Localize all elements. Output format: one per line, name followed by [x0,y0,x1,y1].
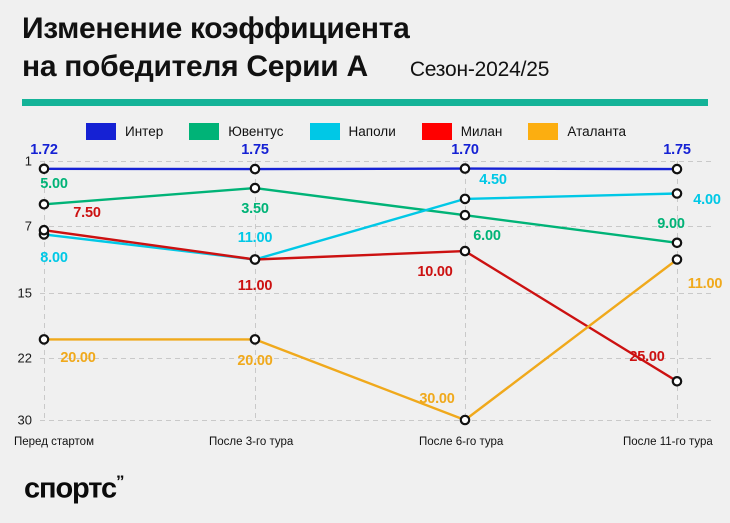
series-line-Аталанта [44,260,677,421]
legend-item-3: Милан [422,123,503,140]
legend-item-1: Ювентус [189,123,283,140]
data-point-label: 11.00 [238,278,273,294]
data-point-marker [673,239,681,247]
data-point-label: 7.50 [73,205,100,221]
data-point-label: 11.00 [238,230,273,246]
legend-swatch-icon [310,123,340,140]
legend-label: Наполи [349,124,396,139]
data-point-label: 1.72 [30,142,57,158]
legend-label: Интер [125,124,163,139]
data-point-label: 1.75 [663,142,690,158]
data-point-label: 8.00 [40,250,67,266]
data-point-marker [673,189,681,197]
x-axis-category-label: Перед стартом [14,436,94,448]
legend-label: Милан [461,124,503,139]
data-point-label: 20.00 [60,350,95,366]
data-point-marker [40,335,48,343]
data-point-marker [461,247,469,255]
x-axis-category-label: После 6-го тура [419,436,503,448]
data-point-marker [251,335,259,343]
data-point-marker [40,200,48,208]
data-point-label: 10.00 [417,264,452,280]
data-point-label: 1.70 [451,142,478,158]
data-point-label: 4.50 [479,172,506,188]
legend-swatch-icon [422,123,452,140]
data-point-label: 20.00 [237,353,272,369]
data-point-marker [673,377,681,385]
series-line-Интер [44,169,677,170]
data-point-marker [251,184,259,192]
chart-canvas [0,150,730,440]
legend-swatch-icon [86,123,116,140]
data-point-label: 5.00 [40,176,67,192]
data-point-marker [461,164,469,172]
title-row-secondary: на победителя Серии А Сезон-2024/25 [22,48,712,86]
data-point-label: 1.75 [241,142,268,158]
y-axis-tick-label: 1 [2,154,32,169]
legend-label: Ювентус [228,124,283,139]
y-axis-tick-label: 22 [2,351,32,366]
data-point-marker [673,255,681,263]
header: Изменение коэффициента на победителя Сер… [22,10,712,86]
data-point-marker [40,226,48,234]
data-point-marker [40,165,48,173]
data-point-marker [673,165,681,173]
page-title-line2: на победителя Серии А [22,48,368,86]
logo-text: спортс [24,473,116,505]
data-point-marker [461,416,469,424]
data-point-label: 9.00 [657,216,684,232]
legend-swatch-icon [528,123,558,140]
x-axis-category-label: После 3-го тура [209,436,293,448]
infographic-root: Изменение коэффициента на победителя Сер… [0,0,730,523]
y-axis-tick-label: 15 [2,286,32,301]
data-point-label: 30.00 [419,391,454,407]
data-point-label: 3.50 [241,201,268,217]
line-chart-plot: 1.721.751.701.755.003.506.009.008.0011.0… [0,150,730,440]
data-point-marker [461,195,469,203]
y-axis-tick-label: 30 [2,413,32,428]
legend-swatch-icon [189,123,219,140]
page-title-line1: Изменение коэффициента [22,10,712,48]
sports-logo: спортс” [24,473,123,504]
x-axis-category-label: После 11-го тура [623,436,713,448]
data-point-marker [461,211,469,219]
logo-quote-mark: ” [116,472,123,491]
header-divider [22,99,708,106]
y-axis-tick-label: 7 [2,219,32,234]
legend-item-4: Аталанта [528,123,626,140]
legend-label: Аталанта [567,124,626,139]
data-point-label: 11.00 [688,276,723,292]
legend-item-2: Наполи [310,123,396,140]
data-point-label: 6.00 [473,228,500,244]
season-subtitle: Сезон-2024/25 [410,58,549,82]
chart-legend: ИнтерЮвентусНаполиМиланАталанта [86,123,652,140]
data-point-marker [251,255,259,263]
legend-item-0: Интер [86,123,163,140]
data-point-label: 25.00 [629,349,664,365]
data-point-label: 4.00 [693,192,720,208]
data-point-marker [251,165,259,173]
